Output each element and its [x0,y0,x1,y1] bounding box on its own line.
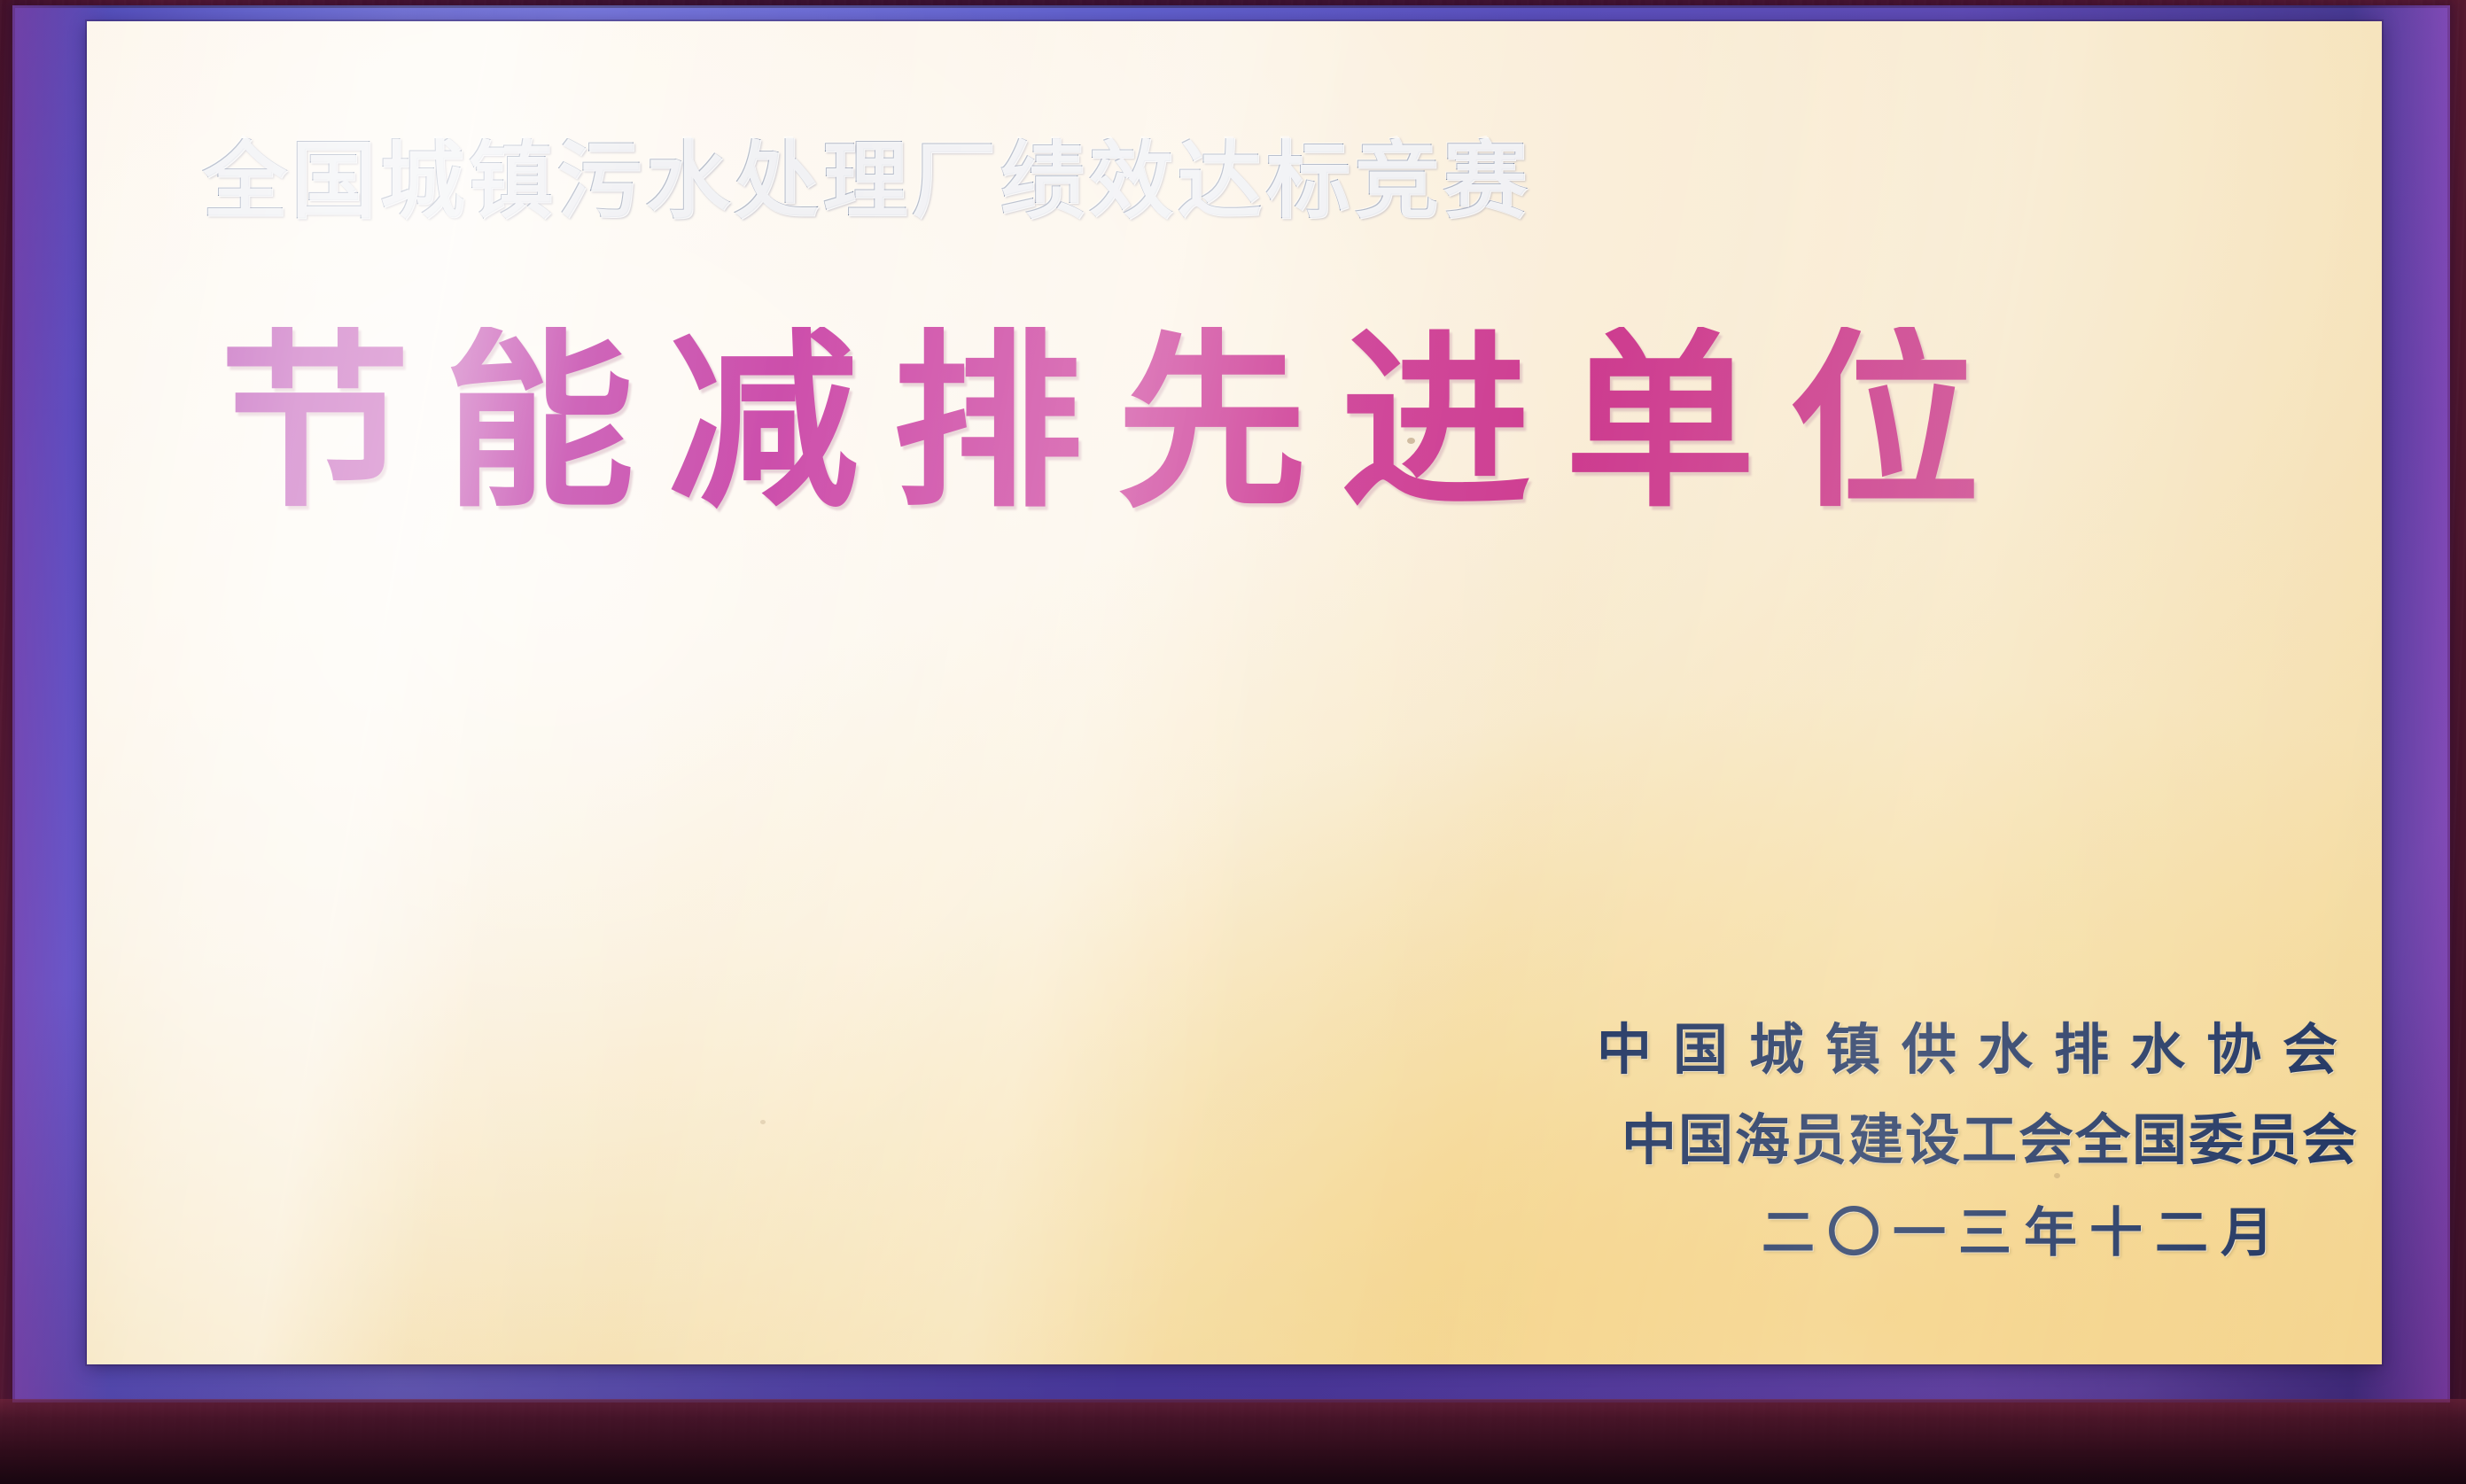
award-title: 节能减排先进单位 [220,327,2275,517]
competition-header: 全国城镇污水处理厂绩效达标竞赛 [202,138,1974,223]
wood-frame-bottom-edge [0,1399,2466,1484]
award-plaque: 全国城镇污水处理厂绩效达标竞赛 节能减排先进单位 中国城镇供水排水协会 中国海员… [0,0,2466,1484]
surface-speck [2054,1173,2060,1178]
signature-block: 中国城镇供水排水协会 中国海员建设工会全国委员会 二〇一三年十二月 [1372,1022,2364,1260]
surface-speck [760,1120,766,1124]
surface-speck [1407,438,1415,444]
plaque-content: 全国城镇污水处理厂绩效达标竞赛 节能减排先进单位 中国城镇供水排水协会 中国海员… [87,21,2382,1364]
issue-date: 二〇一三年十二月 [1372,1207,2364,1260]
issuing-organization-secondary: 中国海员建设工会全国委员会 [1372,1113,2364,1168]
plaque-face: 全国城镇污水处理厂绩效达标竞赛 节能减排先进单位 中国城镇供水排水协会 中国海员… [87,21,2382,1364]
issuing-organization-primary: 中国城镇供水排水协会 [1372,1022,2364,1077]
